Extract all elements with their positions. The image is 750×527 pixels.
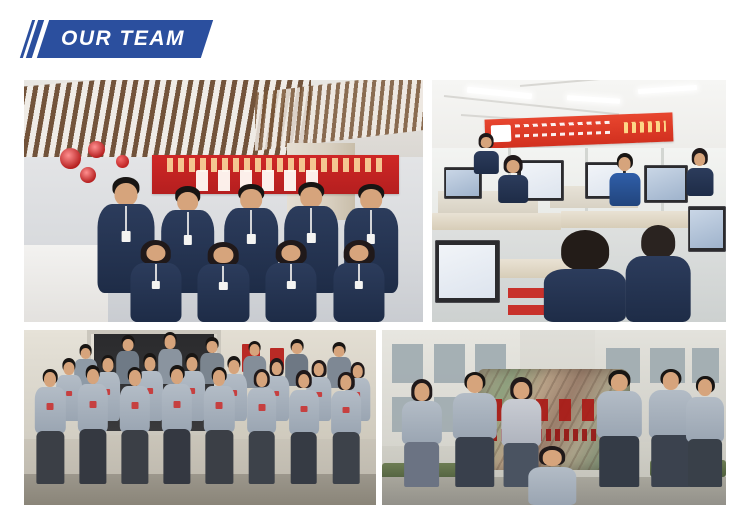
wall-flower-decor [88, 141, 106, 158]
banner-gold-text [624, 121, 666, 134]
banner-text-line [515, 121, 613, 128]
person-front-row [330, 372, 362, 484]
banner-text-line [515, 131, 613, 138]
office-desk [432, 213, 561, 230]
person-office-worker [497, 155, 529, 203]
person-front-row [77, 365, 109, 484]
person-front-row [35, 369, 67, 485]
computer-monitor [644, 165, 688, 204]
team-photo-gallery [24, 80, 726, 505]
person-office-worker [685, 148, 714, 196]
photo-office-scene [432, 80, 726, 322]
person-foreground-seated [626, 225, 691, 322]
person-standing [451, 372, 499, 488]
person-front-row [288, 370, 320, 484]
person-foreground-seated [544, 230, 626, 322]
gallery-photo-open-office[interactable] [432, 80, 726, 322]
person-office-worker [608, 153, 640, 206]
building-window [392, 344, 423, 383]
person-front-row [161, 365, 193, 484]
person-front-row [259, 240, 323, 322]
computer-monitor-foreground [435, 240, 500, 303]
person-front-row [192, 242, 256, 322]
gallery-photo-stone-sign[interactable] [382, 330, 726, 505]
photo-stone-scene [382, 330, 726, 505]
person-standing [399, 379, 444, 488]
wall-flower-decor [60, 148, 81, 169]
page-title: OUR TEAM [61, 27, 185, 51]
person-front-row [119, 367, 151, 484]
person-front-row [246, 369, 278, 485]
photo-lineup-scene [24, 330, 376, 505]
person-crouching [526, 446, 578, 506]
person-front-row [124, 240, 188, 322]
photo-ceremony-scene [24, 80, 423, 322]
balloon-decor [116, 155, 129, 168]
gallery-photo-staff-lineup[interactable] [24, 330, 376, 505]
computer-monitor [688, 206, 726, 252]
person-front-row [327, 240, 391, 322]
gallery-photo-ceremony-group[interactable] [24, 80, 423, 322]
person-office-worker [473, 133, 499, 174]
person-front-row [204, 367, 236, 484]
person-standing [595, 370, 643, 487]
page-header: OUR TEAM [24, 20, 207, 58]
person-standing [685, 376, 726, 488]
section-title-banner: OUR TEAM [37, 20, 213, 58]
